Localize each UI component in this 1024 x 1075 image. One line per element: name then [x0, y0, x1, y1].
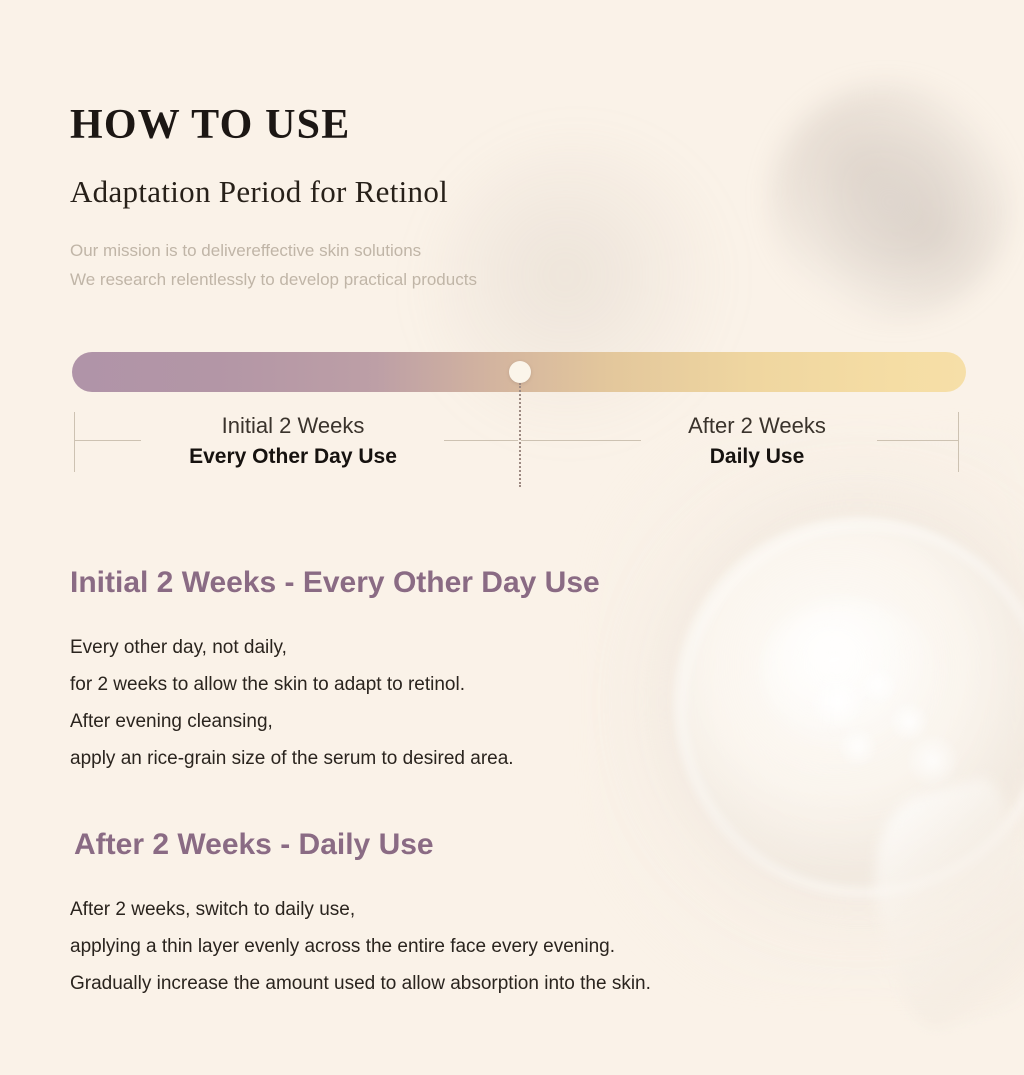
timeline-tick-start [74, 412, 75, 472]
timeline-divider-dotted-line [519, 383, 521, 487]
page-eyebrow: HOW TO USE [70, 101, 350, 149]
background-warm-wash [594, 430, 1024, 990]
section-body-initial-two-weeks: Every other day, not daily, for 2 weeks … [70, 629, 514, 777]
section-heading-after-two-weeks: After 2 Weeks - Daily Use [74, 828, 434, 862]
timeline-phase-after: After 2 Weeks Daily Use [607, 410, 907, 473]
background-serum-droplet [672, 516, 1024, 888]
mission-line-2: We research relentlessly to develop prac… [70, 265, 477, 294]
background-splash-bubbles [800, 660, 970, 800]
phase-period-label: Initial 2 Weeks [143, 410, 443, 441]
phase-mode-label: Daily Use [607, 441, 907, 473]
background-dropper-pipette [851, 774, 1024, 1036]
section-body-after-two-weeks: After 2 weeks, switch to daily use, appl… [70, 891, 651, 1002]
timeline-phase-initial: Initial 2 Weeks Every Other Day Use [143, 410, 443, 473]
timeline-rule-left-outer [74, 440, 141, 441]
mission-line-1: Our mission is to delivereffective skin … [70, 236, 477, 265]
phase-mode-label: Every Other Day Use [143, 441, 443, 473]
timeline-tick-end [958, 412, 959, 472]
section-heading-initial-two-weeks: Initial 2 Weeks - Every Other Day Use [70, 566, 600, 600]
background-blurred-object [770, 85, 1010, 320]
mission-statement: Our mission is to delivereffective skin … [70, 236, 477, 294]
background-droplet-highlight [760, 600, 940, 750]
phase-period-label: After 2 Weeks [607, 410, 907, 441]
timeline-marker-dot [509, 361, 531, 383]
timeline-rule-left-inner [444, 440, 518, 441]
page-title: Adaptation Period for Retinol [70, 174, 448, 210]
background-droplet-rim [678, 522, 1024, 896]
